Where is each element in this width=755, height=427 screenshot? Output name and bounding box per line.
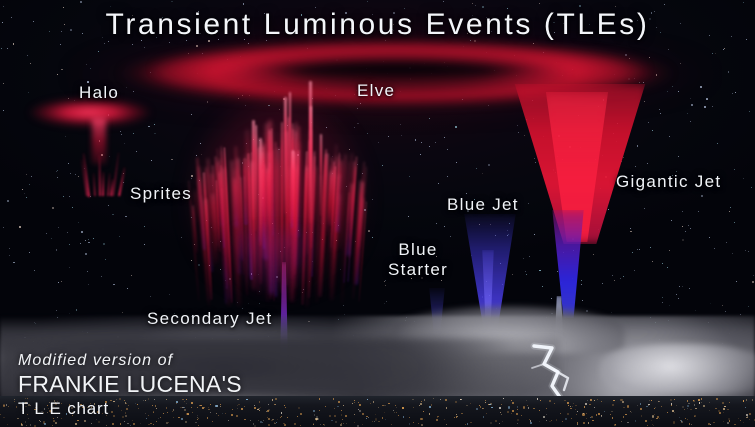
credit-block: Modified version of FRANKIE LUCENA'S T L… [18, 352, 242, 419]
label-gigantic-jet: Gigantic Jet [616, 172, 721, 192]
credit-line-2: FRANKIE LUCENA'S [18, 371, 242, 398]
label-blue-jet: Blue Jet [447, 195, 519, 215]
page-title: Transient Luminous Events (TLEs) [0, 8, 755, 42]
cloud-bright-mass [600, 344, 755, 394]
label-elve: Elve [357, 81, 395, 101]
label-blue-starter: Blue Starter [383, 240, 453, 280]
halo-tendrils [78, 148, 122, 196]
tle-chart-image: Transient Luminous Events (TLEs) Halo El… [0, 0, 755, 427]
label-halo: Halo [79, 83, 119, 103]
credit-line-1: Modified version of [18, 352, 242, 370]
label-secondary-jet: Secondary Jet [147, 309, 273, 329]
label-sprites: Sprites [130, 184, 192, 204]
credit-line-3: T L E chart [18, 399, 242, 419]
sprite-tail-glow [228, 232, 320, 312]
elve-inner-ring [150, 46, 650, 90]
